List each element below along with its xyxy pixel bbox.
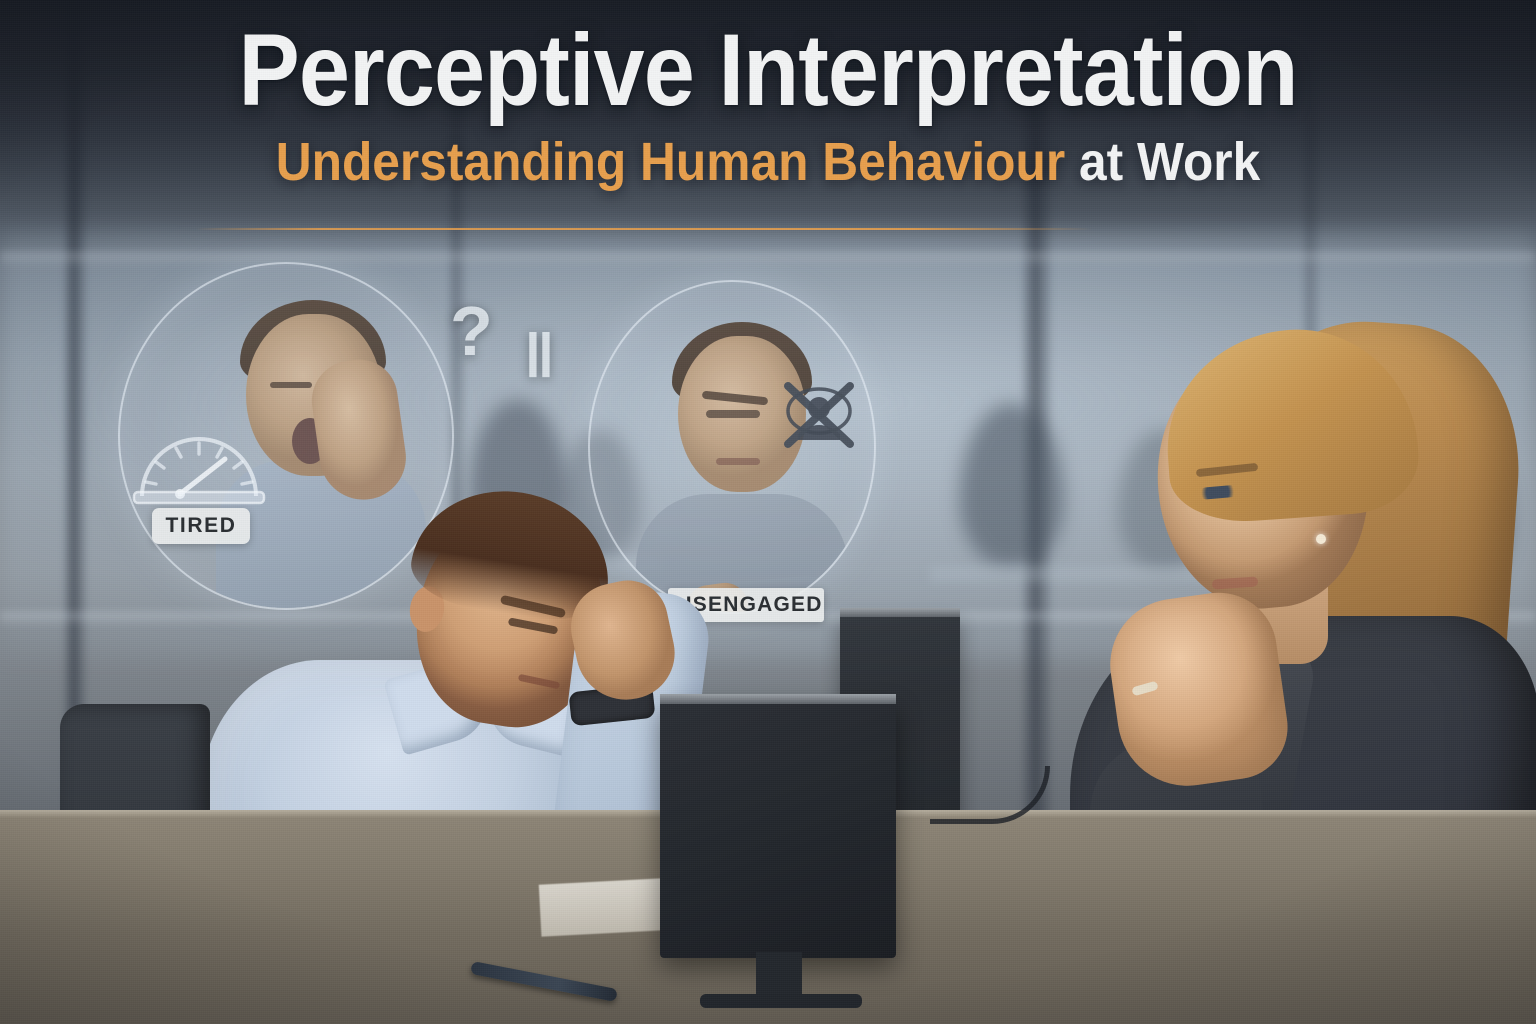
monitor-stand-base <box>700 994 862 1008</box>
poster-canvas: TIRED DISENGAGED ? ‖ <box>0 0 1536 1024</box>
subtitle-plain-text: at Work <box>1079 132 1260 192</box>
primary-monitor-bezel <box>660 694 896 704</box>
not-equal-symbol: ‖ <box>524 326 559 388</box>
figure-eye <box>706 410 760 418</box>
question-mark-symbol: ? <box>450 296 493 366</box>
primary-monitor <box>660 700 896 958</box>
page-title: Perceptive Interpretation <box>77 18 1459 122</box>
figure-eye <box>270 382 312 388</box>
figure-mouth <box>716 458 760 465</box>
earring <box>1316 534 1326 544</box>
secondary-monitor-bezel <box>840 608 960 617</box>
monitor-stand-neck <box>756 952 802 998</box>
title-underline <box>196 228 1092 230</box>
subtitle-accent-text: Understanding Human Behaviour <box>276 132 1065 192</box>
page-subtitle: Understanding Human Behaviour at Work <box>61 134 1474 191</box>
no-engagement-icon <box>780 378 858 452</box>
title-block: Perceptive Interpretation Understanding … <box>0 18 1536 191</box>
